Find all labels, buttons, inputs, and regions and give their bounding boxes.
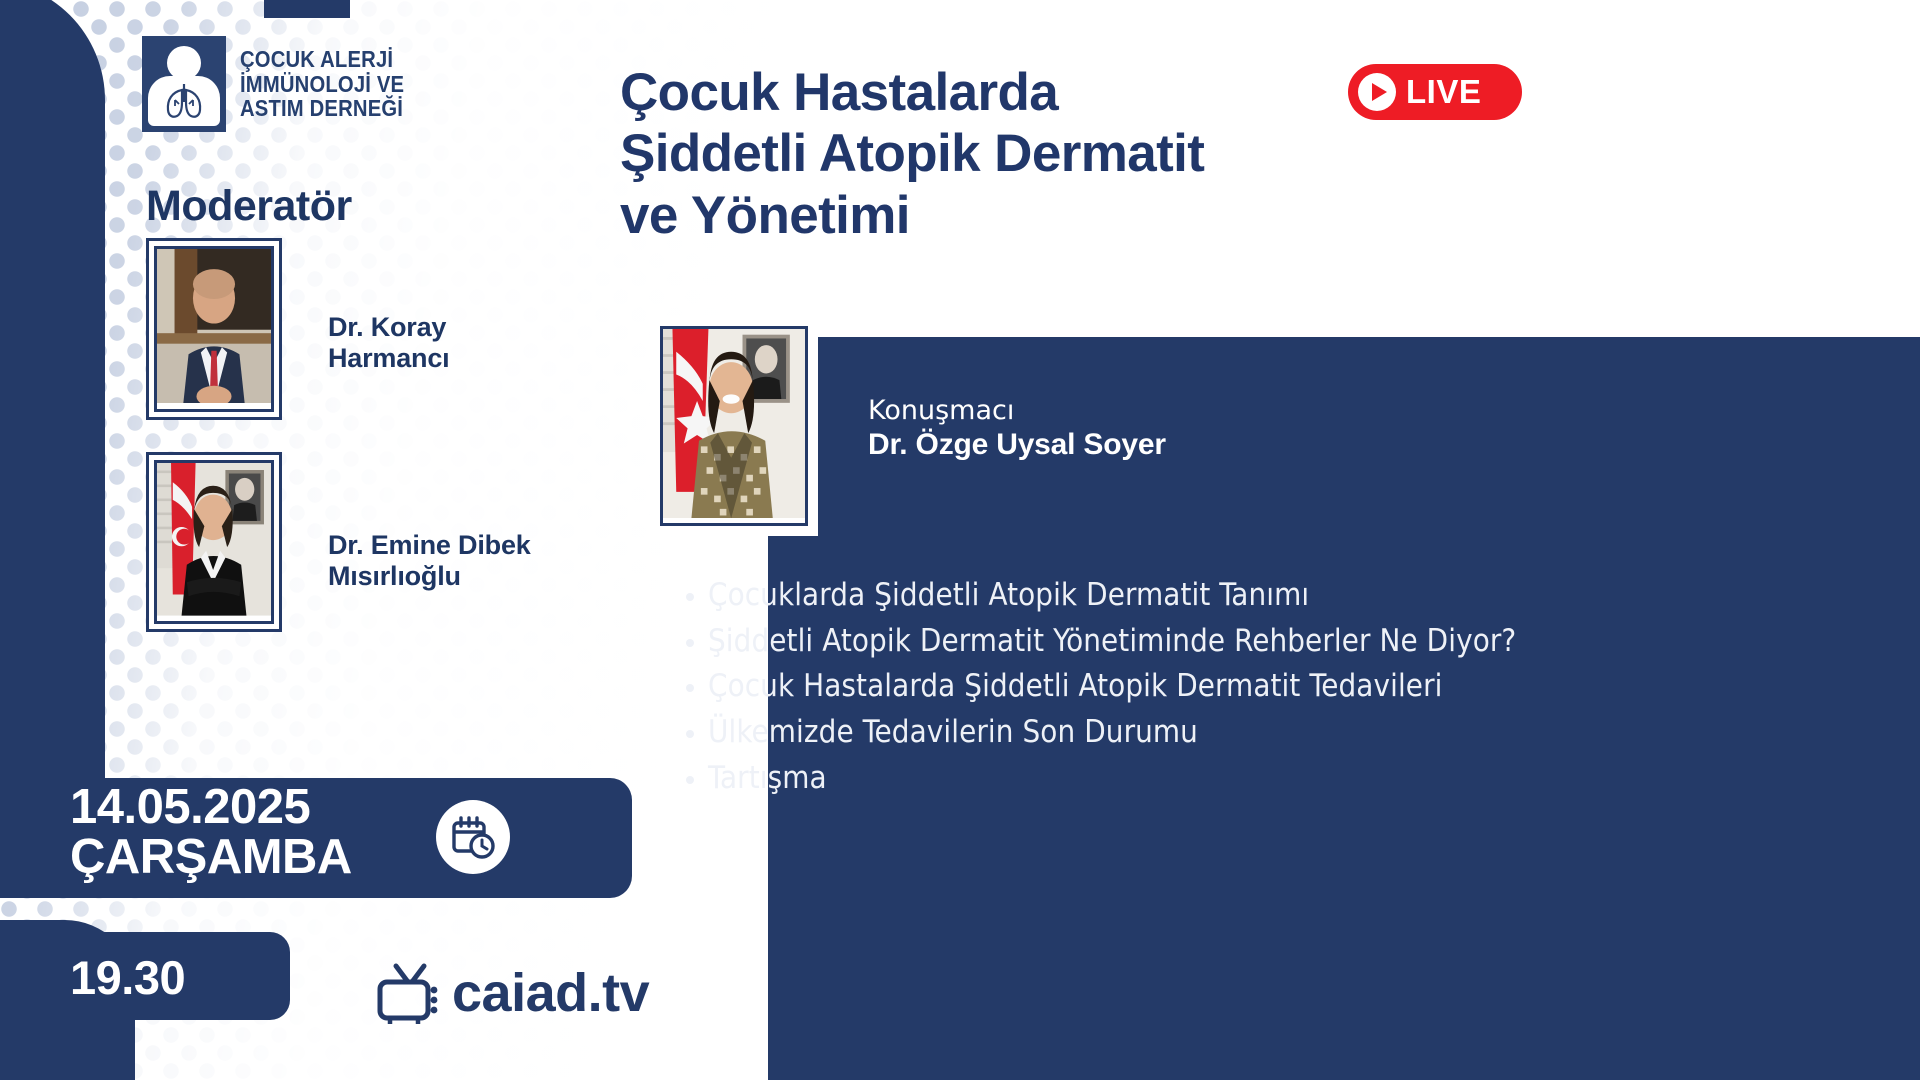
event-time: 19.30 xyxy=(70,950,185,1005)
event-time-badge: 19.30 xyxy=(0,932,290,1020)
title-line-3: ve Yönetimi xyxy=(620,185,1520,246)
association-logo: ÇOCUK ALERJİ İMMÜNOLOJİ VE ASTIM DERNEĞİ xyxy=(142,36,427,132)
moderator-name-1: Dr. Koray Harmancı xyxy=(328,312,578,374)
moderator-name-2: Dr. Emine Dibek Mısırlıoğlu xyxy=(328,530,598,592)
play-icon xyxy=(1358,73,1396,111)
list-item: Şiddetli Atopik Dermatit Yönetiminde Reh… xyxy=(672,622,1852,662)
moderator-1-line-1: Dr. Koray xyxy=(328,312,578,343)
website-url: caiad.tv xyxy=(452,962,649,1024)
event-date-badge: 14.05.2025 ÇARŞAMBA xyxy=(0,778,632,898)
list-item: Çocuk Hastalarda Şiddetli Atopik Dermati… xyxy=(672,667,1852,707)
lungs-glyph xyxy=(162,82,206,120)
speaker-role-label: Konuşmacı xyxy=(868,395,1014,426)
event-day: ÇARŞAMBA xyxy=(70,832,352,882)
list-item: Çocuklarda Şiddetli Atopik Dermatit Tanı… xyxy=(672,576,1852,616)
moderator-2-line-2: Mısırlıoğlu xyxy=(328,561,598,592)
decorative-left-navy-shape xyxy=(0,0,105,860)
portrait-emine-dibek-misirlioglu xyxy=(157,463,271,616)
speaker-photo xyxy=(650,316,818,536)
association-logo-text: ÇOCUK ALERJİ İMMÜNOLOJİ VE ASTIM DERNEĞİ xyxy=(240,47,404,120)
portrait-koray-harmanci xyxy=(157,249,271,403)
logo-line-1: ÇOCUK ALERJİ xyxy=(240,47,404,71)
list-item: Tartışma xyxy=(672,759,1852,799)
moderator-1-line-2: Harmancı xyxy=(328,343,578,374)
moderator-photo-2 xyxy=(146,452,282,632)
calendar-clock-icon xyxy=(436,800,510,874)
list-item: Ülkemizde Tedavilerin Son Durumu xyxy=(672,713,1852,753)
speaker-name: Dr. Özge Uysal Soyer xyxy=(868,428,1166,462)
moderator-photo-1 xyxy=(146,238,282,420)
moderator-2-line-1: Dr. Emine Dibek xyxy=(328,530,598,561)
title-line-2: Şiddetli Atopik Dermatit xyxy=(620,123,1520,184)
logo-line-2: İMMÜNOLOJİ VE xyxy=(240,72,404,96)
event-date-text: 14.05.2025 ÇARŞAMBA xyxy=(70,782,352,883)
live-badge[interactable]: LIVE xyxy=(1348,64,1522,120)
event-date: 14.05.2025 xyxy=(70,782,352,832)
live-label: LIVE xyxy=(1406,73,1481,111)
tv-icon xyxy=(376,962,442,1024)
logo-line-3: ASTIM DERNEĞİ xyxy=(240,96,404,120)
topics-list: Çocuklarda Şiddetli Atopik Dermatit Tanı… xyxy=(672,576,1852,804)
portrait-ozge-uysal-soyer xyxy=(663,329,805,518)
moderator-section-label: Moderatör xyxy=(146,182,352,231)
website-link[interactable]: caiad.tv xyxy=(376,962,649,1024)
lungs-person-icon xyxy=(142,36,226,132)
decorative-top-navy-tab xyxy=(264,0,350,18)
